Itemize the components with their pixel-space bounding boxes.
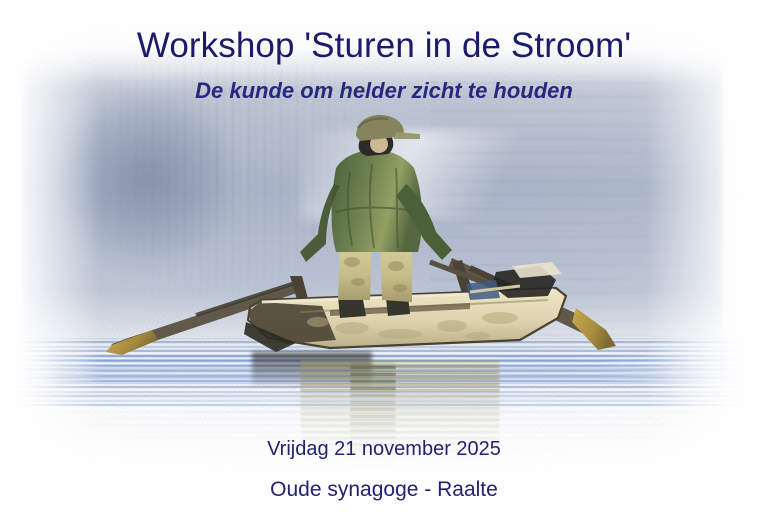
poster-canvas: Workshop 'Sturen in de Stroom' De kunde …	[0, 0, 768, 512]
event-date: Vrijdag 21 november 2025	[0, 438, 768, 461]
text-layer: Workshop 'Sturen in de Stroom' De kunde …	[0, 0, 768, 512]
event-venue: Oude synagoge - Raalte	[0, 478, 768, 502]
poster-title: Workshop 'Sturen in de Stroom'	[0, 26, 768, 66]
poster-subtitle: De kunde om helder zicht te houden	[0, 78, 768, 104]
